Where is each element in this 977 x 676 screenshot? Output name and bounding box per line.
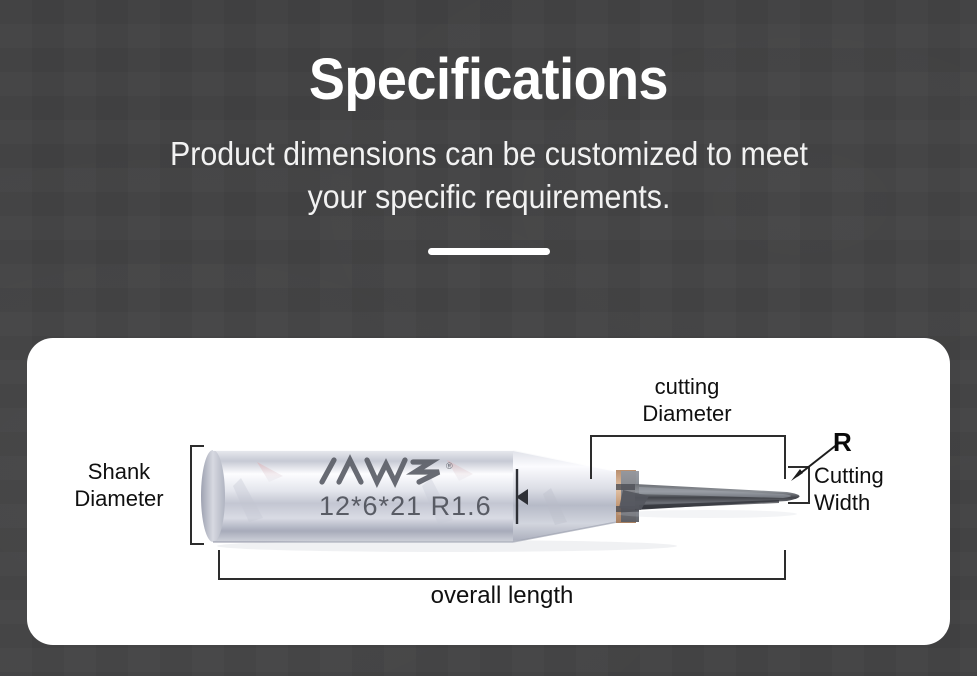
cutting-width-label: Cutting Width [814,462,934,516]
page-subtitle: Product dimensions can be customized to … [139,112,838,218]
divider-bar [428,248,550,255]
product-size-code: 12*6*21 R1.6 [319,491,492,521]
dimension-diagram: ® 12*6*21 R1.6 [27,338,950,645]
overall-length-label: overall length [327,582,677,609]
shank-diameter-label: Shank Diameter [55,458,183,512]
overall-length-bracket [218,550,786,580]
radius-label: R [833,428,852,456]
specification-card: ® 12*6*21 R1.6 [27,338,950,645]
page-title: Specifications [34,0,943,112]
cutting-width-bracket [788,466,810,504]
svg-text:®: ® [446,461,453,471]
cutting-diameter-bracket [590,435,786,479]
cutting-diameter-label: cutting Diameter [587,373,787,427]
shank-diameter-bracket [190,445,204,545]
header: Specifications Product dimensions can be… [0,0,977,255]
